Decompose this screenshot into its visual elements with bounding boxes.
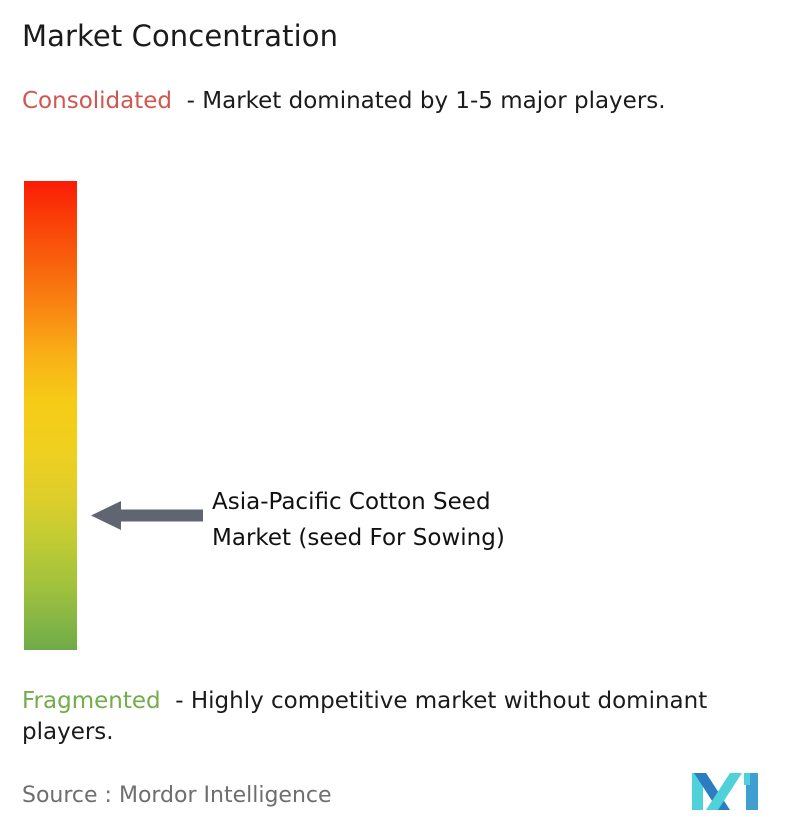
legend-consolidated: Consolidated - Market dominated by 1-5 m… [22, 86, 774, 117]
mordor-intelligence-logo-icon [692, 773, 758, 810]
market-concentration-chart: Market Concentration Consolidated - Mark… [0, 0, 796, 834]
legend-description-consolidated: - Market dominated by 1-5 major players. [187, 88, 666, 114]
concentration-gradient-bar [24, 181, 77, 650]
page-title: Market Concentration [22, 19, 338, 53]
legend-spacer-bottom [161, 688, 176, 714]
annotation-label-line2: Market (seed For Sowing) [212, 520, 682, 556]
legend-term-consolidated: Consolidated [22, 88, 172, 114]
annotation-label: Asia-Pacific Cotton Seed Market (seed Fo… [212, 484, 682, 556]
legend-spacer-top [172, 88, 187, 114]
legend-term-fragmented: Fragmented [22, 688, 161, 714]
annotation-arrow-icon [91, 500, 203, 532]
legend-fragmented: Fragmented - Highly competitive market w… [22, 686, 782, 748]
source-attribution: Source : Mordor Intelligence [22, 782, 332, 810]
annotation-label-line1: Asia-Pacific Cotton Seed [212, 484, 682, 520]
